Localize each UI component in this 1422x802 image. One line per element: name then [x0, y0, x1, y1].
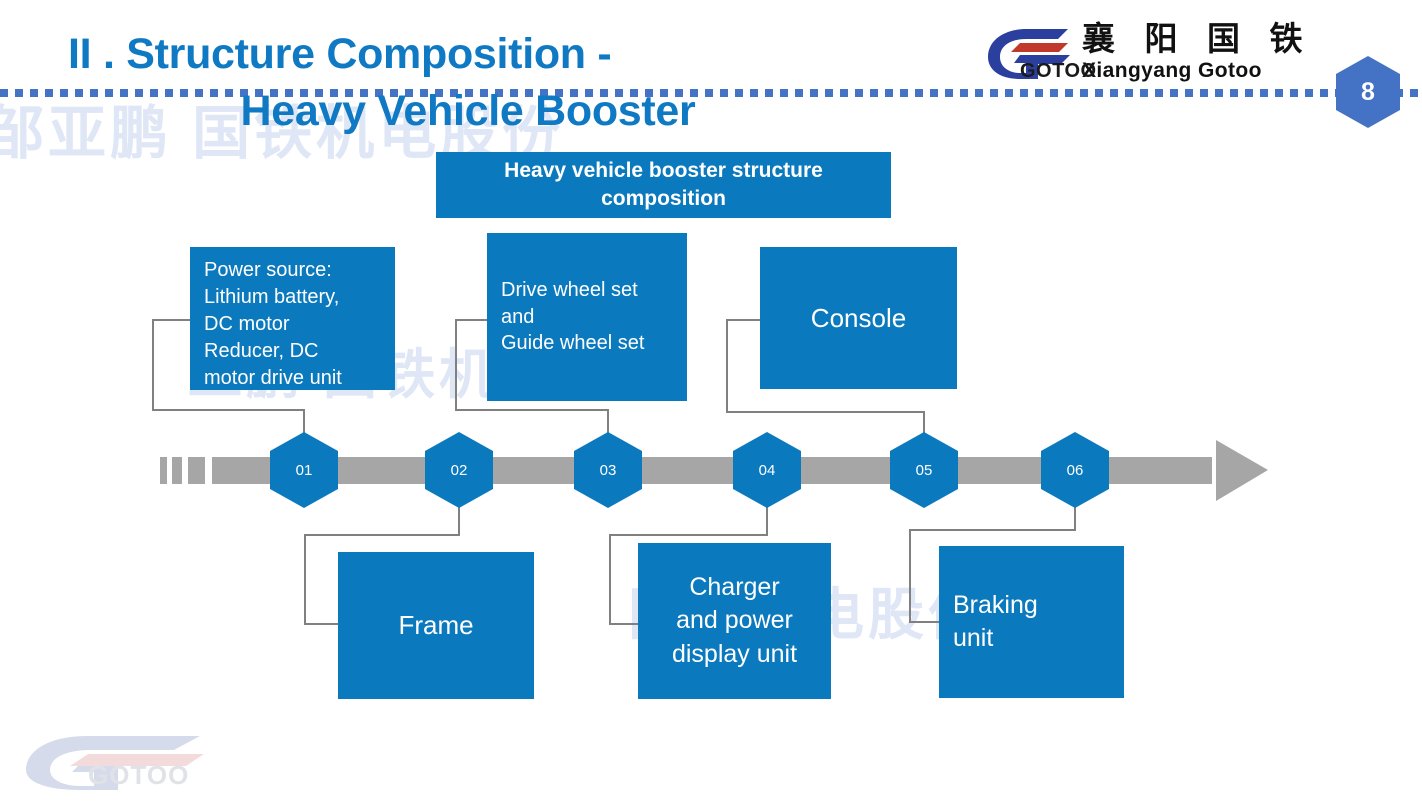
timeline-hex-02[interactable]: 02 — [425, 432, 493, 508]
timeline-hex-06[interactable]: 06 — [1041, 432, 1109, 508]
timeline-hex-04[interactable]: 04 — [733, 432, 801, 508]
page-number-badge: 8 — [1336, 56, 1400, 128]
gotoo-logo-icon: GOTOO — [980, 23, 1072, 81]
node-box-03-label: Drive wheel set and Guide wheel set — [501, 277, 644, 356]
timeline-hex-05-label: 05 — [916, 462, 933, 479]
footer-logo-wordmark: GOTOO — [88, 760, 189, 791]
node-box-06[interactable]: Braking unit — [939, 546, 1124, 698]
node-box-04[interactable]: Charger and power display unit — [638, 543, 831, 699]
node-box-05-label: Console — [811, 303, 906, 334]
page-title-line2: Heavy Vehicle Booster — [68, 83, 828, 140]
node-box-05[interactable]: Console — [760, 247, 957, 389]
slide-canvas: 邹亚鹏 国铁机电股份 亚鹏 国铁机电股份 国铁机电股份 II . Structu… — [0, 0, 1422, 802]
node-box-02-label: Frame — [398, 610, 473, 641]
node-box-01[interactable]: Power source: Lithium battery, DC motor … — [190, 247, 395, 390]
timeline-hex-06-label: 06 — [1067, 462, 1084, 479]
node-box-03[interactable]: Drive wheel set and Guide wheel set — [487, 233, 687, 401]
timeline-hex-01[interactable]: 01 — [270, 432, 338, 508]
bar-dash-4 — [1178, 457, 1195, 484]
bar-dash-1 — [160, 457, 167, 484]
logo-wordmark: GOTOO — [1020, 60, 1097, 83]
footer-logo-watermark: GOTOO — [14, 730, 224, 792]
timeline-hex-03[interactable]: 03 — [574, 432, 642, 508]
logo-english-name: Xiangyang Gotoo — [1082, 59, 1311, 83]
node-box-01-label: Power source: Lithium battery, DC motor … — [204, 257, 342, 392]
page-title: II . Structure Composition - Heavy Vehic… — [68, 26, 828, 140]
timeline-hex-02-label: 02 — [451, 462, 468, 479]
bar-dash-3 — [188, 457, 205, 484]
brand-logo: GOTOO 襄 阳 国 铁 Xiangyang Gotoo — [980, 22, 1311, 83]
timeline-hex-04-label: 04 — [759, 462, 776, 479]
timeline-arrow-icon — [1216, 440, 1268, 501]
page-title-line1: II . Structure Composition - — [68, 30, 611, 78]
node-box-02[interactable]: Frame — [338, 552, 534, 699]
node-box-06-label: Braking unit — [953, 589, 1038, 656]
diagram-heading: Heavy vehicle booster structure composit… — [436, 152, 891, 218]
logo-chinese-name: 襄 阳 国 铁 — [1082, 22, 1311, 57]
logo-text-block: 襄 阳 国 铁 Xiangyang Gotoo — [1082, 22, 1311, 83]
bar-dash-2 — [172, 457, 182, 484]
timeline-hex-05[interactable]: 05 — [890, 432, 958, 508]
timeline-hex-01-label: 01 — [296, 462, 313, 479]
node-box-04-label: Charger and power display unit — [672, 571, 797, 672]
timeline-hex-03-label: 03 — [600, 462, 617, 479]
bar-dash-5 — [1200, 457, 1209, 484]
